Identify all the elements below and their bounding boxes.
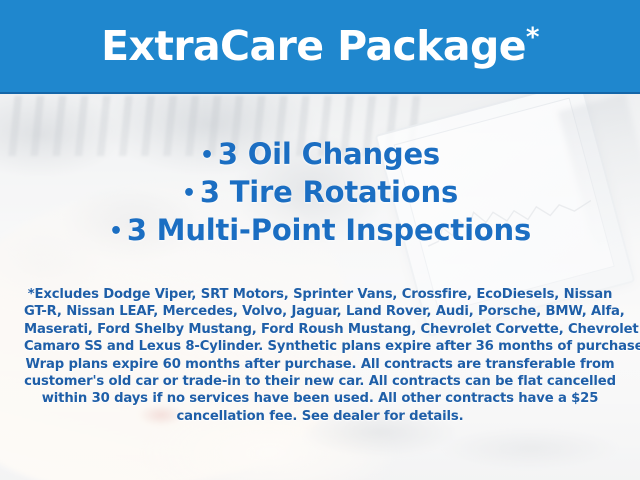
extracare-package-promo-card: ExtraCare Package* •3 Oil Changes •3 Tir…	[0, 0, 640, 480]
benefit-item-label: 3 Oil Changes	[218, 137, 440, 171]
disclaimer-line: GT-R, Nissan LEAF, Mercedes, Volvo, Jagu…	[24, 303, 616, 320]
bullet-icon: •	[200, 143, 214, 168]
disclaimer-line: cancellation fee. See dealer for details…	[24, 408, 616, 425]
disclaimer-line: within 30 days if no services have been …	[24, 390, 616, 407]
bullet-icon: •	[182, 181, 196, 206]
header-banner: ExtraCare Package*	[0, 0, 640, 94]
benefit-item: •3 Tire Rotations	[0, 174, 640, 212]
disclaimer-line: Maserati, Ford Shelby Mustang, Ford Rous…	[24, 321, 616, 338]
page-title-asterisk: *	[526, 22, 539, 52]
benefit-item-label: 3 Tire Rotations	[200, 175, 458, 209]
disclaimer-line: Camaro SS and Lexus 8-Cylinder. Syntheti…	[24, 338, 616, 355]
page-title-text: ExtraCare Package	[101, 22, 526, 70]
benefit-item: •3 Oil Changes	[0, 136, 640, 174]
bullet-icon: •	[109, 219, 123, 244]
disclaimer-line: Wrap plans expire 60 months after purcha…	[24, 356, 616, 373]
benefits-list: •3 Oil Changes •3 Tire Rotations •3 Mult…	[0, 136, 640, 250]
page-title: ExtraCare Package*	[101, 26, 539, 67]
benefit-item-label: 3 Multi-Point Inspections	[127, 213, 531, 247]
disclaimer-line: *Excludes Dodge Viper, SRT Motors, Sprin…	[24, 286, 616, 303]
benefit-item: •3 Multi-Point Inspections	[0, 212, 640, 250]
disclaimer-line: customer's old car or trade-in to their …	[24, 373, 616, 390]
disclaimer-text: *Excludes Dodge Viper, SRT Motors, Sprin…	[24, 286, 616, 425]
